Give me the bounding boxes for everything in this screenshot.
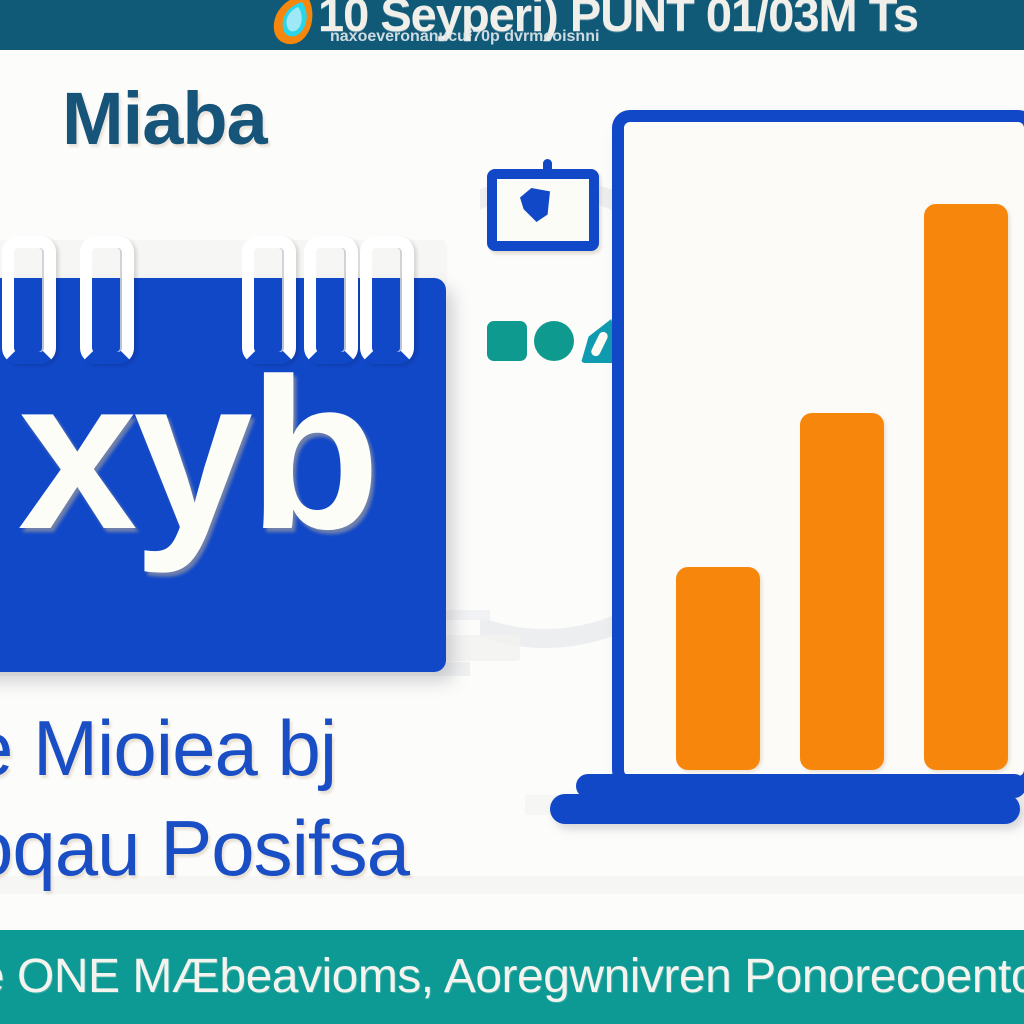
poster-canvas: 10 Seyperi) PUNT 01/03M Ts naxoeveronanu… — [0, 0, 1024, 1024]
laptop-illustration — [612, 110, 1024, 810]
spiral-ring-icon — [304, 236, 358, 364]
page-title: Miaba — [62, 76, 267, 161]
header-subtitle: naxoeveronanucu²70p dvrmeoisnni — [330, 28, 599, 46]
bottom-banner: e ONE MÆbeavioms, Aoregwnivren Ponorecoe… — [0, 930, 1024, 1024]
spiral-ring-icon — [80, 236, 134, 364]
chart-bar — [676, 567, 760, 770]
laptop-screen — [612, 110, 1024, 788]
laptop-base — [550, 794, 1020, 824]
droplet-leaf-logo-icon — [262, 0, 324, 50]
square-chip-icon[interactable] — [487, 321, 527, 361]
main-content-area: Miaba xyb — [0, 50, 1024, 930]
chart-bar — [924, 204, 1008, 770]
circle-chip-icon[interactable] — [534, 321, 574, 361]
notepad-label: xyb — [0, 346, 446, 561]
spiral-ring-icon — [2, 236, 56, 364]
framed-picture-pin-icon[interactable] — [487, 169, 599, 251]
pin-icon — [543, 159, 552, 179]
picture-glyph-icon — [520, 188, 550, 222]
caption-line-2: oqau Posifsa — [0, 800, 590, 896]
chart-bar — [800, 413, 884, 770]
bar-chart — [636, 134, 1024, 788]
spiral-ring-icon — [242, 236, 296, 364]
bottom-banner-text: e ONE MÆbeavioms, Aoregwnivren Ponorecoe… — [0, 948, 1024, 1006]
spiral-notepad-card[interactable]: xyb — [0, 226, 448, 686]
spiral-ring-icon — [360, 236, 414, 364]
caption-line-1: e Mioiea bj — [0, 700, 590, 796]
top-header-bar: 10 Seyperi) PUNT 01/03M Ts naxoeveronanu… — [0, 0, 1024, 50]
chip-icon-row — [487, 319, 617, 363]
